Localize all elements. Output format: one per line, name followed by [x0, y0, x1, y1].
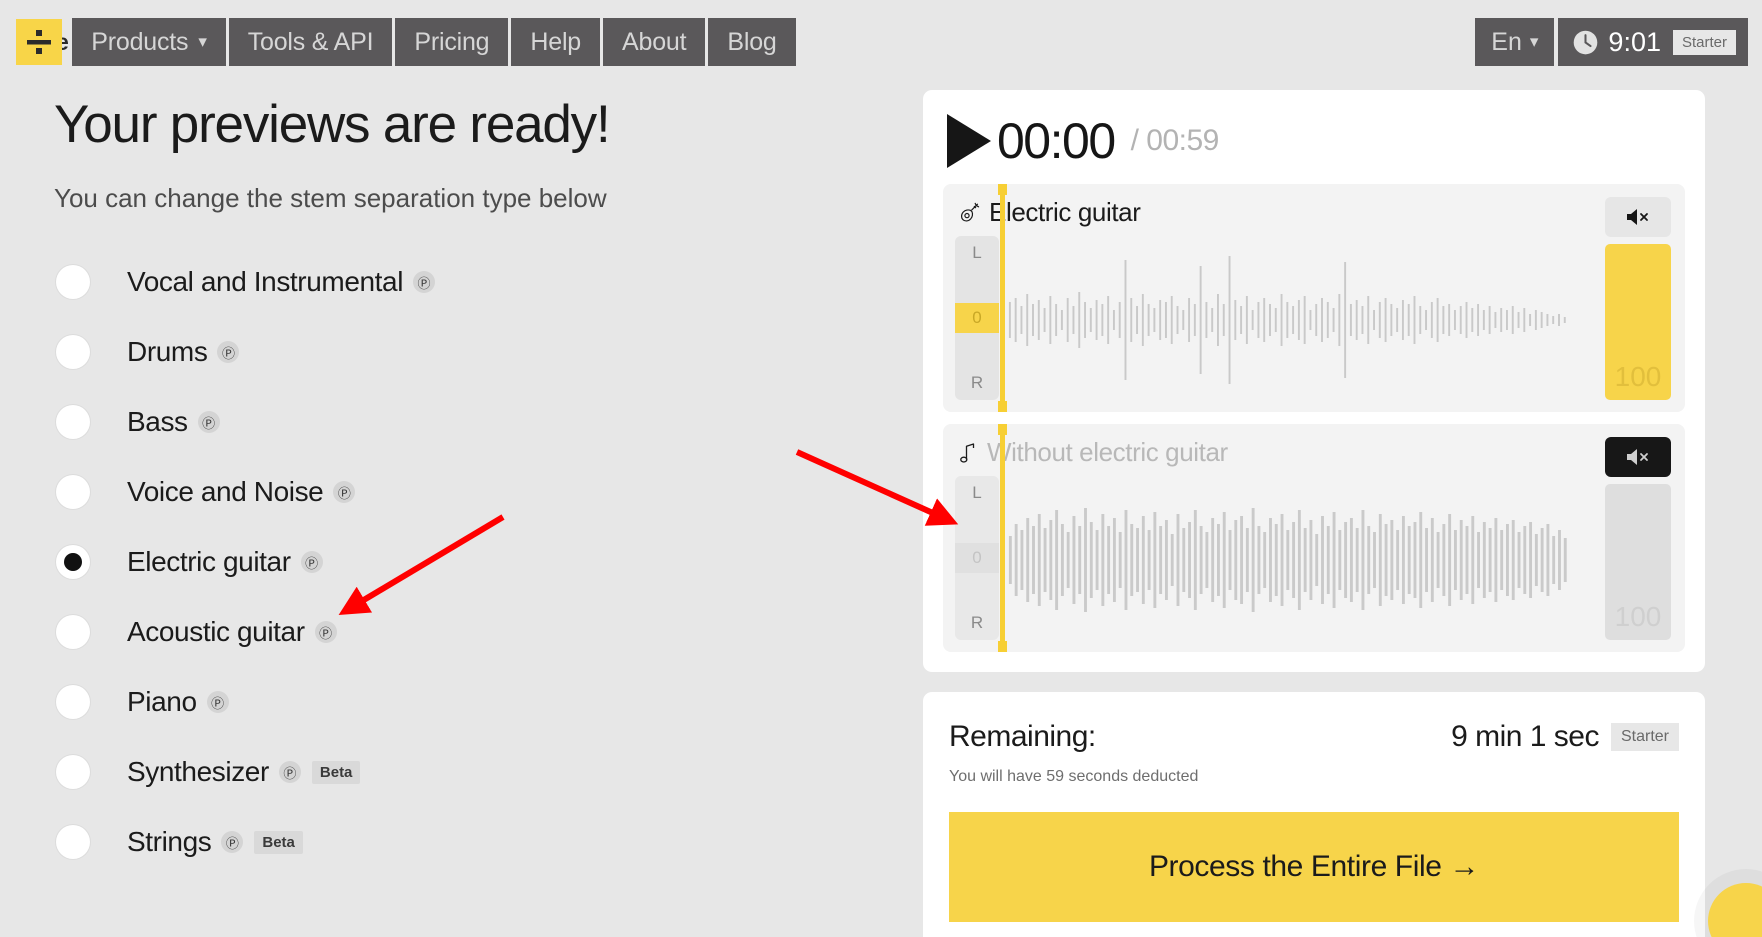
remaining-row: Remaining: 9 min 1 sec Starter [949, 720, 1679, 754]
radio-option-bass[interactable]: Bass Ⓟ [54, 387, 814, 457]
radio-option-synthesizer[interactable]: Synthesizer Ⓟ Beta [54, 737, 814, 807]
radio-button[interactable] [56, 265, 90, 299]
pan-slider[interactable]: L 0 R [955, 476, 999, 640]
radio-option-label: Acoustic guitar [127, 616, 305, 648]
electric-guitar-icon [957, 201, 981, 225]
nav-item-tools-api[interactable]: Tools & API [229, 18, 393, 66]
beta-badge: Beta [312, 761, 361, 784]
volume-slider[interactable]: 100 [1605, 244, 1671, 400]
pan-label-left: L [972, 483, 981, 503]
mute-button[interactable] [1605, 437, 1671, 477]
playhead[interactable] [1000, 184, 1005, 412]
track-electric-guitar: Electric guitar L 0 R [943, 184, 1685, 412]
music-note-icon [957, 441, 979, 465]
deduction-note: You will have 59 seconds deducted [949, 768, 1679, 786]
radio-option-drums[interactable]: Drums Ⓟ [54, 317, 814, 387]
beta-badge: Beta [254, 831, 303, 854]
total-time: / 00:59 [1131, 124, 1219, 158]
clock-icon [1572, 29, 1599, 56]
radio-button[interactable] [56, 685, 90, 719]
pan-label-right: R [971, 613, 983, 633]
stem-selection-panel: Your previews are ready! You can change … [54, 96, 814, 877]
radio-option-label: Synthesizer [127, 756, 269, 788]
radio-option-label: Bass [127, 406, 188, 438]
nav-item-pricing[interactable]: Pricing [395, 18, 508, 66]
pan-value: 0 [955, 543, 999, 573]
pro-badge-icon: Ⓟ [221, 831, 243, 853]
time-credit-indicator[interactable]: 9:01 Starter [1558, 18, 1748, 66]
transport-controls: 00:00 / 00:59 [943, 108, 1685, 184]
preview-player-panel: 00:00 / 00:59 Electric guitar L 0 R [923, 90, 1705, 937]
pro-badge-icon: Ⓟ [301, 551, 323, 573]
track-title-row: Electric guitar [957, 197, 1141, 228]
radio-button[interactable] [56, 405, 90, 439]
radio-button[interactable] [56, 825, 90, 859]
radio-option-strings[interactable]: Strings Ⓟ Beta [54, 807, 814, 877]
radio-button[interactable] [56, 615, 90, 649]
play-icon[interactable] [947, 114, 991, 168]
volume-value: 100 [1605, 361, 1671, 393]
radio-button[interactable] [56, 475, 90, 509]
plan-badge: Starter [1673, 30, 1736, 55]
volume-value: 100 [1605, 601, 1671, 633]
pro-badge-icon: Ⓟ [207, 691, 229, 713]
annotation-arrow-right [797, 452, 944, 518]
playhead[interactable] [1000, 424, 1005, 652]
radio-button[interactable] [56, 755, 90, 789]
track-without-electric-guitar: Without electric guitar L 0 R [943, 424, 1685, 652]
pro-badge-icon: Ⓟ [315, 621, 337, 643]
main-nav: Products ▾ Tools & API Pricing Help Abou… [72, 18, 798, 66]
stem-type-radio-group: Vocal and Instrumental Ⓟ Drums Ⓟ Bass Ⓟ … [54, 247, 814, 877]
nav-item-blog[interactable]: Blog [708, 18, 795, 66]
remaining-value-group: 9 min 1 sec Starter [1451, 720, 1679, 754]
radio-option-label: Voice and Noise [127, 476, 323, 508]
pan-label-right: R [971, 373, 983, 393]
nav-item-blog-label: Blog [727, 28, 776, 57]
page-title: Your previews are ready! [54, 96, 814, 154]
pan-label-left: L [972, 243, 981, 263]
language-selector[interactable]: En ▾ [1475, 18, 1554, 66]
radio-option-voice-and-noise[interactable]: Voice and Noise Ⓟ [54, 457, 814, 527]
radio-option-label: Electric guitar [127, 546, 291, 578]
remaining-credit-card: Remaining: 9 min 1 sec Starter You will … [923, 692, 1705, 937]
language-selector-label: En [1491, 28, 1522, 57]
waveform-display[interactable] [1007, 480, 1585, 640]
player-card: 00:00 / 00:59 Electric guitar L 0 R [923, 90, 1705, 672]
pro-badge-icon: Ⓟ [279, 761, 301, 783]
remaining-value: 9 min 1 sec [1451, 720, 1599, 754]
mute-button[interactable] [1605, 197, 1671, 237]
pro-badge-icon: Ⓟ [333, 481, 355, 503]
nav-item-help[interactable]: Help [511, 18, 600, 66]
radio-option-label: Piano [127, 686, 197, 718]
radio-option-acoustic-guitar[interactable]: Acoustic guitar Ⓟ [54, 597, 814, 667]
nav-item-about-label: About [622, 28, 686, 57]
track-title-row: Without electric guitar [957, 437, 1228, 468]
radio-option-label: Vocal and Instrumental [127, 266, 403, 298]
radio-option-vocal-and-instrumental[interactable]: Vocal and Instrumental Ⓟ [54, 247, 814, 317]
remaining-label: Remaining: [949, 720, 1096, 754]
page-subtitle: You can change the stem separation type … [54, 180, 664, 217]
time-credit-value: 9:01 [1608, 27, 1661, 58]
top-navigation-bar: e Products ▾ Tools & API Pricing Help Ab… [0, 0, 1762, 84]
track-name: Electric guitar [989, 197, 1141, 228]
support-chat-fab[interactable] [1708, 883, 1762, 937]
header-right-group: En ▾ 9:01 Starter [1475, 18, 1748, 66]
nav-item-pricing-label: Pricing [414, 28, 489, 57]
waveform-display[interactable] [1007, 240, 1585, 400]
volume-slider[interactable]: 100 [1605, 484, 1671, 640]
radio-option-label: Drums [127, 336, 207, 368]
pro-badge-icon: Ⓟ [413, 271, 435, 293]
divide-logo-icon[interactable] [16, 19, 62, 65]
radio-option-piano[interactable]: Piano Ⓟ [54, 667, 814, 737]
chevron-down-icon: ▾ [198, 32, 206, 52]
chevron-down-icon: ▾ [1530, 32, 1539, 52]
remaining-plan-badge: Starter [1611, 723, 1679, 751]
radio-button[interactable] [56, 335, 90, 369]
pro-badge-icon: Ⓟ [217, 341, 239, 363]
pan-value: 0 [955, 303, 999, 333]
pro-badge-icon: Ⓟ [198, 411, 220, 433]
track-name: Without electric guitar [987, 437, 1228, 468]
nav-item-tools-api-label: Tools & API [248, 28, 374, 57]
current-time: 00:00 [997, 112, 1115, 170]
radio-button[interactable] [56, 545, 90, 579]
pan-slider[interactable]: L 0 R [955, 236, 999, 400]
nav-item-help-label: Help [530, 28, 581, 57]
nav-item-about[interactable]: About [603, 18, 705, 66]
process-entire-file-button[interactable]: Process the Entire File → [949, 812, 1679, 922]
radio-option-electric-guitar[interactable]: Electric guitar Ⓟ [54, 527, 814, 597]
radio-option-label: Strings [127, 826, 211, 858]
nav-item-products[interactable]: Products ▾ [72, 18, 225, 66]
nav-item-products-label: Products [91, 28, 188, 57]
